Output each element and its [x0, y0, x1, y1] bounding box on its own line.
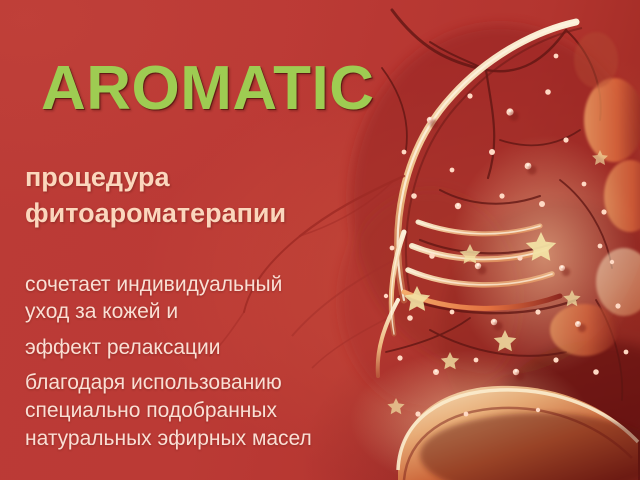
body-block-1-line-2: уход за кожей и — [25, 298, 282, 325]
body-block-1: сочетает индивидуальный уход за кожей и — [25, 271, 282, 326]
body-block-3: благодаря использованию специально подоб… — [25, 369, 312, 453]
subtitle-line-1: процедура — [25, 160, 286, 196]
slide-canvas: AROMATIC процедура фитоароматерапии соче… — [0, 0, 640, 480]
subtitle-block: процедура фитоароматерапии — [25, 160, 286, 231]
slide-content: AROMATIC процедура фитоароматерапии соче… — [0, 0, 640, 480]
body-block-2: эффект релаксации — [25, 334, 221, 361]
subtitle-line-2: фитоароматерапии — [25, 196, 286, 232]
body-block-3-line-2: специально подобранных — [25, 397, 312, 425]
page-title: AROMATIC — [41, 58, 374, 120]
body-block-3-line-1: благодаря использованию — [25, 369, 312, 397]
body-block-2-line-1: эффект релаксации — [25, 334, 221, 361]
body-block-3-line-3: натуральных эфирных масел — [25, 425, 312, 453]
body-block-1-line-1: сочетает индивидуальный — [25, 271, 282, 298]
